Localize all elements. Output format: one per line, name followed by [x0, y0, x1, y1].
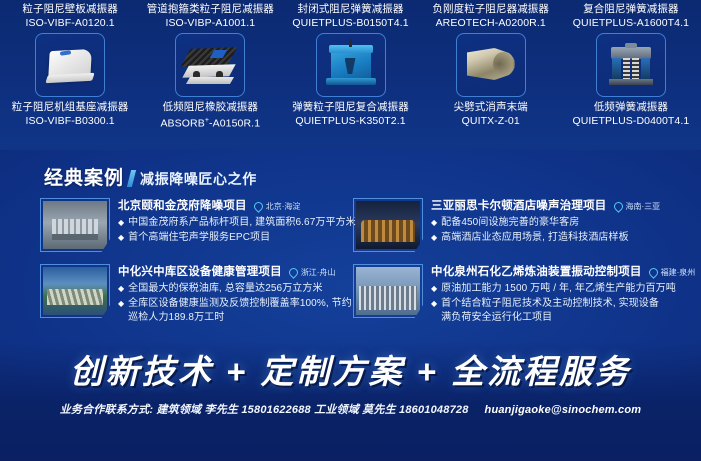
- case-title-row: 北京颐和金茂府降噪项目 北京·海淀: [118, 199, 353, 214]
- diamond-bullet-icon: ◆: [118, 297, 124, 325]
- silencer-cone-image: [457, 34, 525, 96]
- case-thumbnail: [40, 264, 110, 318]
- product-card[interactable]: 弹簧粒子阻尼复合减振器 QUIETPLUS-K350T2.1: [280, 100, 420, 131]
- product-thumb-cell[interactable]: [0, 33, 140, 97]
- case-body: 中化泉州石化乙烯炼油装置振动控制项目 福建·泉州 ◆原油加工能力 1500 万吨…: [431, 264, 666, 326]
- case-title-row: 中化泉州石化乙烯炼油装置振动控制项目 福建·泉州: [431, 265, 666, 280]
- case-title: 北京颐和金茂府降噪项目: [118, 199, 247, 214]
- case-bullet-text: 首个高端住宅声学服务EPC项目: [128, 231, 270, 245]
- product-thumb-cell[interactable]: [561, 33, 701, 97]
- case-body: 中化兴中库区设备健康管理项目 浙江·舟山 ◆全国最大的保税油库, 总容量达256…: [118, 264, 353, 326]
- case-bullet: ◆中国金茂府系产品标杆项目, 建筑面积6.67万平方米: [118, 216, 353, 230]
- case-bullet-text: 全库区设备健康监测及反馈控制覆盖率100%, 节约巡检人力189.8万工时: [128, 297, 353, 325]
- case-location: 浙江·舟山: [289, 267, 336, 279]
- case-location: 北京·海淀: [254, 201, 301, 213]
- case-bullet-text: 原油加工能力 1500 万吨 / 年, 年乙烯生产能力百万吨: [441, 282, 676, 296]
- product-name: 低频阻尼橡胶减振器: [142, 100, 278, 114]
- case-bullet-text: 中国金茂府系产品标杆项目, 建筑面积6.67万平方米: [128, 216, 356, 230]
- diamond-bullet-icon: ◆: [118, 216, 124, 230]
- product-code: ISO-VIBP-A1001.1: [142, 16, 278, 30]
- contact-line: 业务合作联系方式: 建筑领域 李先生 15801622688 工业领域 莫先生 …: [0, 402, 701, 418]
- product-code: QUIETPLUS-A1600T4.1: [563, 16, 699, 30]
- section-subtitle: 减振降噪匠心之作: [140, 170, 257, 189]
- case-bullet: ◆全库区设备健康监测及反馈控制覆盖率100%, 节约巡检人力189.8万工时: [118, 297, 353, 325]
- case-title: 三亚丽思卡尔顿酒店噪声治理项目: [431, 199, 607, 214]
- product-code: QUIETPLUS-K350T2.1: [282, 114, 418, 128]
- product-code: AREOTECH-A0200R.1: [423, 16, 559, 30]
- product-thumb-cell[interactable]: [140, 33, 280, 97]
- section-header: 经典案例 减振降噪匠心之作: [44, 168, 257, 189]
- case-location: 海南·三亚: [614, 201, 661, 213]
- case-bullet: ◆高端酒店业态应用场景, 打造科技酒店样板: [431, 231, 666, 245]
- product-name: 弹簧粒子阻尼复合减振器: [282, 100, 418, 114]
- product-thumbnail-row: [0, 33, 701, 97]
- product-thumb-cell[interactable]: [421, 33, 561, 97]
- product-card[interactable]: 管道抱箍类粒子阻尼减振器 ISO-VIBP-A1001.1: [140, 2, 280, 30]
- slogan: 创新技术 + 定制方案 + 全流程服务: [0, 352, 701, 392]
- product-thumb-cell[interactable]: [280, 33, 420, 97]
- product-image-frame: [316, 33, 386, 97]
- location-pin-icon: [252, 200, 265, 213]
- rubber-damper-image: [176, 34, 244, 96]
- case-title-row: 三亚丽思卡尔顿酒店噪声治理项目 海南·三亚: [431, 199, 666, 214]
- zhoushan-depot-photo: [43, 267, 107, 315]
- section-title: 经典案例: [44, 168, 124, 189]
- damper-wall-panel-image: [36, 34, 104, 96]
- spring-damper-box-image: [317, 34, 385, 96]
- product-grid: 粒子阻尼壁板减振器 ISO-VIBF-A0120.1 管道抱箍类粒子阻尼减振器 …: [0, 0, 701, 146]
- case-location-label: 浙江·舟山: [301, 267, 336, 279]
- case-location: 福建·泉州: [649, 267, 696, 279]
- case-body: 三亚丽思卡尔顿酒店噪声治理项目 海南·三亚 ◆配备450间设施完善的豪华客房 ◆…: [431, 198, 666, 260]
- product-code: QUIETPLUS-B0150T4.1: [282, 16, 418, 30]
- product-card[interactable]: 粒子阻尼机组基座减振器 ISO-VIBF-B0300.1: [0, 100, 140, 131]
- beijing-building-photo: [43, 201, 107, 249]
- case-bullet-text: 配备450间设施完善的豪华客房: [441, 216, 579, 230]
- product-row-bottom: 粒子阻尼机组基座减振器 ISO-VIBF-B0300.1 低频阻尼橡胶减振器 A…: [0, 100, 701, 131]
- product-image-frame: [456, 33, 526, 97]
- product-name: 尖劈式消声末端: [423, 100, 559, 114]
- product-card[interactable]: 粒子阻尼壁板减振器 ISO-VIBF-A0120.1: [0, 2, 140, 30]
- diamond-bullet-icon: ◆: [118, 282, 124, 296]
- product-name: 负刚度粒子阻尼器减振器: [423, 2, 559, 16]
- product-code: ABSORB+-A0150R.1: [142, 114, 278, 131]
- code-rest: -A0150R.1: [209, 118, 260, 130]
- diamond-bullet-icon: ◆: [431, 216, 437, 230]
- case-title: 中化兴中库区设备健康管理项目: [118, 265, 282, 280]
- diamond-bullet-icon: ◆: [431, 231, 437, 245]
- case-bullet: ◆全国最大的保税油库, 总容量达256万立方米: [118, 282, 353, 296]
- location-pin-icon: [612, 200, 625, 213]
- case-bullet: ◆首个结合粒子阻尼技术及主动控制技术, 实现设备满负荷安全运行化工项目: [431, 297, 666, 325]
- product-name: 低频弹簧减振器: [563, 100, 699, 114]
- case-title-row: 中化兴中库区设备健康管理项目 浙江·舟山: [118, 265, 353, 280]
- quanzhou-plant-photo: [356, 267, 420, 315]
- case-item[interactable]: 北京颐和金茂府降噪项目 北京·海淀 ◆中国金茂府系产品标杆项目, 建筑面积6.6…: [40, 198, 353, 260]
- case-bullet: ◆配备450间设施完善的豪华客房: [431, 216, 666, 230]
- location-pin-icon: [647, 266, 660, 279]
- product-image-frame: [175, 33, 245, 97]
- product-name: 管道抱箍类粒子阻尼减振器: [142, 2, 278, 16]
- product-name: 粒子阻尼壁板减振器: [2, 2, 138, 16]
- code-base: ABSORB: [160, 118, 204, 130]
- case-location-label: 福建·泉州: [661, 267, 696, 279]
- case-item[interactable]: 三亚丽思卡尔顿酒店噪声治理项目 海南·三亚 ◆配备450间设施完善的豪华客房 ◆…: [353, 198, 666, 260]
- product-name: 粒子阻尼机组基座减振器: [2, 100, 138, 114]
- case-title: 中化泉州石化乙烯炼油装置振动控制项目: [431, 265, 642, 280]
- diamond-bullet-icon: ◆: [431, 297, 437, 325]
- section-accent-bar: [127, 170, 136, 187]
- product-card[interactable]: 低频弹簧减振器 QUIETPLUS-D0400T4.1: [561, 100, 701, 131]
- case-bullet-text: 高端酒店业态应用场景, 打造科技酒店样板: [441, 231, 629, 245]
- product-card[interactable]: 低频阻尼橡胶减振器 ABSORB+-A0150R.1: [140, 100, 280, 131]
- diamond-bullet-icon: ◆: [118, 231, 124, 245]
- case-thumbnail: [40, 198, 110, 252]
- sanya-hotel-photo: [356, 201, 420, 249]
- case-bullet: ◆首个高端住宅声学服务EPC项目: [118, 231, 353, 245]
- case-item[interactable]: 中化泉州石化乙烯炼油装置振动控制项目 福建·泉州 ◆原油加工能力 1500 万吨…: [353, 264, 666, 326]
- contact-text: 业务合作联系方式: 建筑领域 李先生 15801622688 工业领域 莫先生 …: [60, 404, 469, 416]
- product-code: ISO-VIBF-B0300.1: [2, 114, 138, 128]
- product-image-frame: [35, 33, 105, 97]
- case-bullet-text: 全国最大的保税油库, 总容量达256万立方米: [128, 282, 322, 296]
- product-code: QUIETPLUS-D0400T4.1: [563, 114, 699, 128]
- location-pin-icon: [287, 266, 300, 279]
- product-card[interactable]: 封闭式阻尼弹簧减振器 QUIETPLUS-B0150T4.1: [280, 2, 420, 30]
- case-item[interactable]: 中化兴中库区设备健康管理项目 浙江·舟山 ◆全国最大的保税油库, 总容量达256…: [40, 264, 353, 326]
- case-thumbnail: [353, 198, 423, 252]
- product-name: 封闭式阻尼弹簧减振器: [282, 2, 418, 16]
- low-freq-spring-damper-image: [597, 34, 665, 96]
- case-location-label: 海南·三亚: [626, 201, 661, 213]
- product-code: QUITX-Z-01: [423, 114, 559, 128]
- product-name: 复合阻尼弹簧减振器: [563, 2, 699, 16]
- case-studies-section: 经典案例 减振降噪匠心之作 北京颐和金茂府降噪项目 北京·海淀 ◆中国金茂府系产…: [0, 160, 701, 345]
- product-image-frame: [596, 33, 666, 97]
- case-location-label: 北京·海淀: [266, 201, 301, 213]
- case-thumbnail: [353, 264, 423, 318]
- contact-email[interactable]: huanjigaoke@sinochem.com: [485, 404, 642, 416]
- product-row-top: 粒子阻尼壁板减振器 ISO-VIBF-A0120.1 管道抱箍类粒子阻尼减振器 …: [0, 2, 701, 30]
- product-card[interactable]: 负刚度粒子阻尼器减振器 AREOTECH-A0200R.1: [421, 2, 561, 30]
- case-grid: 北京颐和金茂府降噪项目 北京·海淀 ◆中国金茂府系产品标杆项目, 建筑面积6.6…: [40, 198, 665, 326]
- case-bullet: ◆原油加工能力 1500 万吨 / 年, 年乙烯生产能力百万吨: [431, 282, 666, 296]
- case-body: 北京颐和金茂府降噪项目 北京·海淀 ◆中国金茂府系产品标杆项目, 建筑面积6.6…: [118, 198, 353, 260]
- product-code: ISO-VIBF-A0120.1: [2, 16, 138, 30]
- diamond-bullet-icon: ◆: [431, 282, 437, 296]
- poster-page: 粒子阻尼壁板减振器 ISO-VIBF-A0120.1 管道抱箍类粒子阻尼减振器 …: [0, 0, 701, 461]
- product-card[interactable]: 尖劈式消声末端 QUITX-Z-01: [421, 100, 561, 131]
- case-bullet-text: 首个结合粒子阻尼技术及主动控制技术, 实现设备满负荷安全运行化工项目: [441, 297, 666, 325]
- product-card[interactable]: 复合阻尼弹簧减振器 QUIETPLUS-A1600T4.1: [561, 2, 701, 30]
